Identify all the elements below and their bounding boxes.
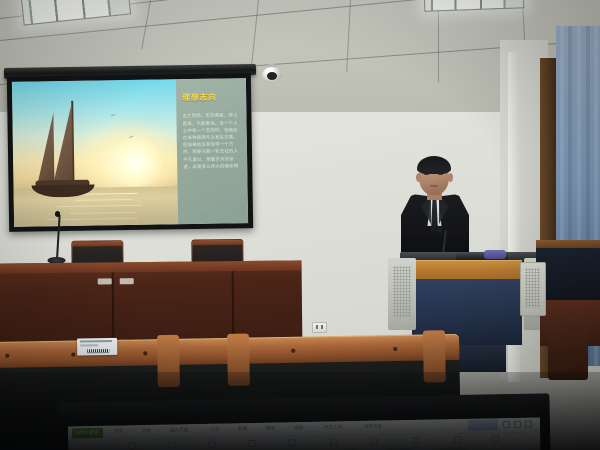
dais-label-right xyxy=(120,278,134,284)
toolbar-icon[interactable] xyxy=(128,442,135,449)
bench-asset-label xyxy=(77,338,117,356)
bench-post-right xyxy=(227,334,250,386)
presentation-slide: ∼ ∼ 理想志向 志之所趋，无远弗届，穷山距海，不能限也。当一个人心中有一个志向… xyxy=(12,78,248,227)
window-controls[interactable] xyxy=(503,420,537,430)
hair xyxy=(417,156,451,174)
slide-text-panel: 理想志向 志之所趋，无远弗届，穷山距海，不能限也。当一个人心中有一个志向时，他就… xyxy=(176,78,248,224)
podium-wood-surface xyxy=(412,260,522,281)
ceiling-grid-line xyxy=(438,0,439,82)
speaker-grille-icon xyxy=(525,268,540,308)
toolbar-icon[interactable] xyxy=(248,440,255,447)
slide-photo: ∼ ∼ xyxy=(12,79,178,227)
sailboat xyxy=(30,101,100,198)
podium-object xyxy=(484,250,506,259)
slide-body-text: 志之所趋，无远弗届，穷山距海，不能限也。当一个人心中有一个志向时，他就会在某种原… xyxy=(183,112,243,171)
ribbon-item[interactable]: 开始 xyxy=(142,428,151,434)
ribbon-item[interactable]: 公式 xyxy=(210,427,219,433)
ribbon-item[interactable]: 审阅 xyxy=(266,426,275,432)
dome-camera-icon xyxy=(262,64,282,74)
sun-glow xyxy=(108,137,164,187)
ribbon-item[interactable]: 开发工具 xyxy=(324,424,343,430)
ear-right xyxy=(448,173,453,182)
lecture-hall-photo: ∼ ∼ 理想志向 志之所趋，无远弗届，穷山距海，不能限也。当一个人心中有一个志向… xyxy=(0,0,600,450)
slide-title: 理想志向 xyxy=(182,92,217,104)
dais-chair-left xyxy=(71,240,123,265)
selected-cell-range[interactable] xyxy=(468,419,498,431)
bench-post-left xyxy=(157,335,180,387)
mouth xyxy=(430,185,438,187)
dais-chair-right xyxy=(191,239,243,264)
podium-microphone-head xyxy=(438,227,442,233)
toolbar-icon[interactable] xyxy=(492,435,499,442)
bench-post-far xyxy=(423,330,446,382)
ribbon-item[interactable]: 数据 xyxy=(238,426,247,432)
podium-side-panel-left xyxy=(388,258,416,330)
dais-top-edge xyxy=(0,260,302,273)
camera-lens xyxy=(267,72,277,80)
right-side-chair xyxy=(548,318,588,380)
ribbon-item[interactable]: 插入页面 xyxy=(170,427,189,433)
toolbar-icon[interactable] xyxy=(330,438,337,445)
toolbar-icon[interactable] xyxy=(412,437,419,444)
ribbon-item[interactable]: 会员专享 xyxy=(364,423,383,429)
presenter xyxy=(393,158,479,262)
toolbar-icon[interactable] xyxy=(370,438,377,445)
toolbar-icon[interactable] xyxy=(288,439,295,446)
ear-left xyxy=(416,173,421,182)
hull xyxy=(32,184,95,197)
toolbar-icon[interactable] xyxy=(168,441,175,448)
wall-outlet xyxy=(312,322,327,333)
mainsail xyxy=(52,101,74,186)
projector-screen: ∼ ∼ 理想志向 志之所趋，无远弗届，穷山距海，不能限也。当一个人心中有一个志向… xyxy=(7,73,253,232)
wall-speaker-panel xyxy=(520,262,546,316)
dais-label-left xyxy=(98,278,112,284)
toolbar-icon[interactable] xyxy=(208,441,215,448)
speaker-grille-icon xyxy=(393,266,411,318)
bird-icon: ∼ xyxy=(110,112,117,120)
toolbar-icon[interactable] xyxy=(454,436,461,443)
close-icon[interactable] xyxy=(525,421,532,428)
app-badge[interactable]: WPS 表格 xyxy=(72,428,103,439)
minimize-icon[interactable] xyxy=(503,421,510,428)
maximize-icon[interactable] xyxy=(514,421,521,428)
dais-microphone-head xyxy=(55,211,60,217)
ribbon-item[interactable]: 文件 xyxy=(114,428,123,434)
foreground-monitor[interactable]: WPS 表格 文件 开始 插入页面 公式 数据 审阅 视图 开发工具 会员专享 xyxy=(57,393,550,450)
foresail xyxy=(36,111,55,186)
ribbon-item[interactable]: 视图 xyxy=(294,425,303,431)
